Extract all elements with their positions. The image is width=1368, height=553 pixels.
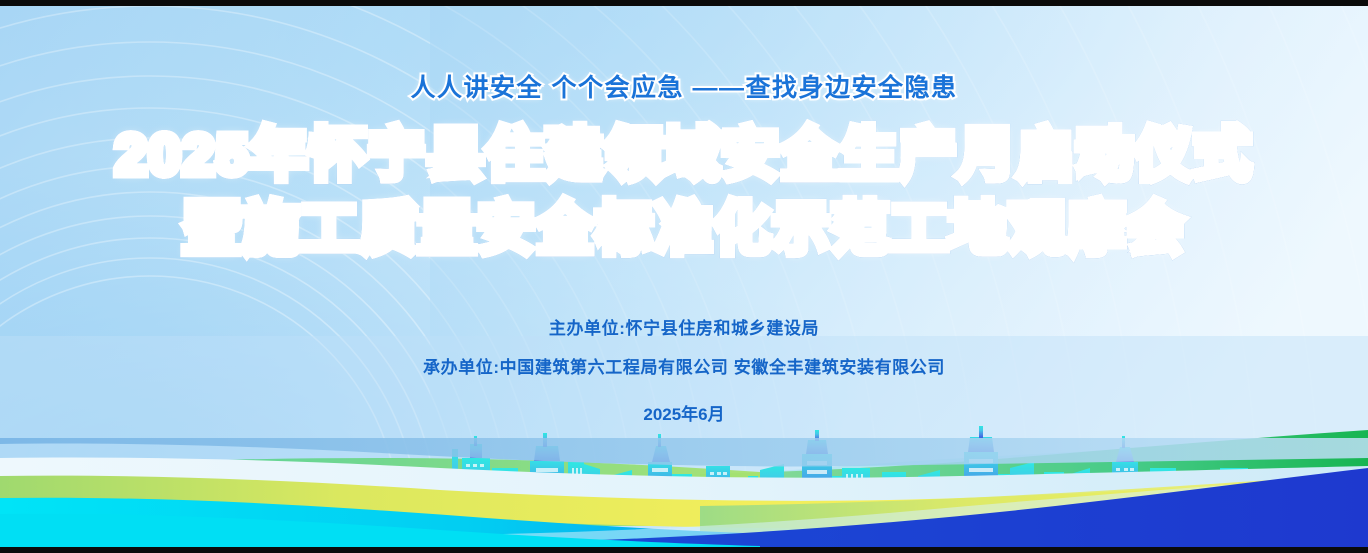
skyline-and-waves-graphic xyxy=(0,6,1368,553)
event-banner: 人人讲安全 个个会应急 ——查找身边安全隐患 2025年怀宁县住建领域安全生产月… xyxy=(0,0,1368,553)
